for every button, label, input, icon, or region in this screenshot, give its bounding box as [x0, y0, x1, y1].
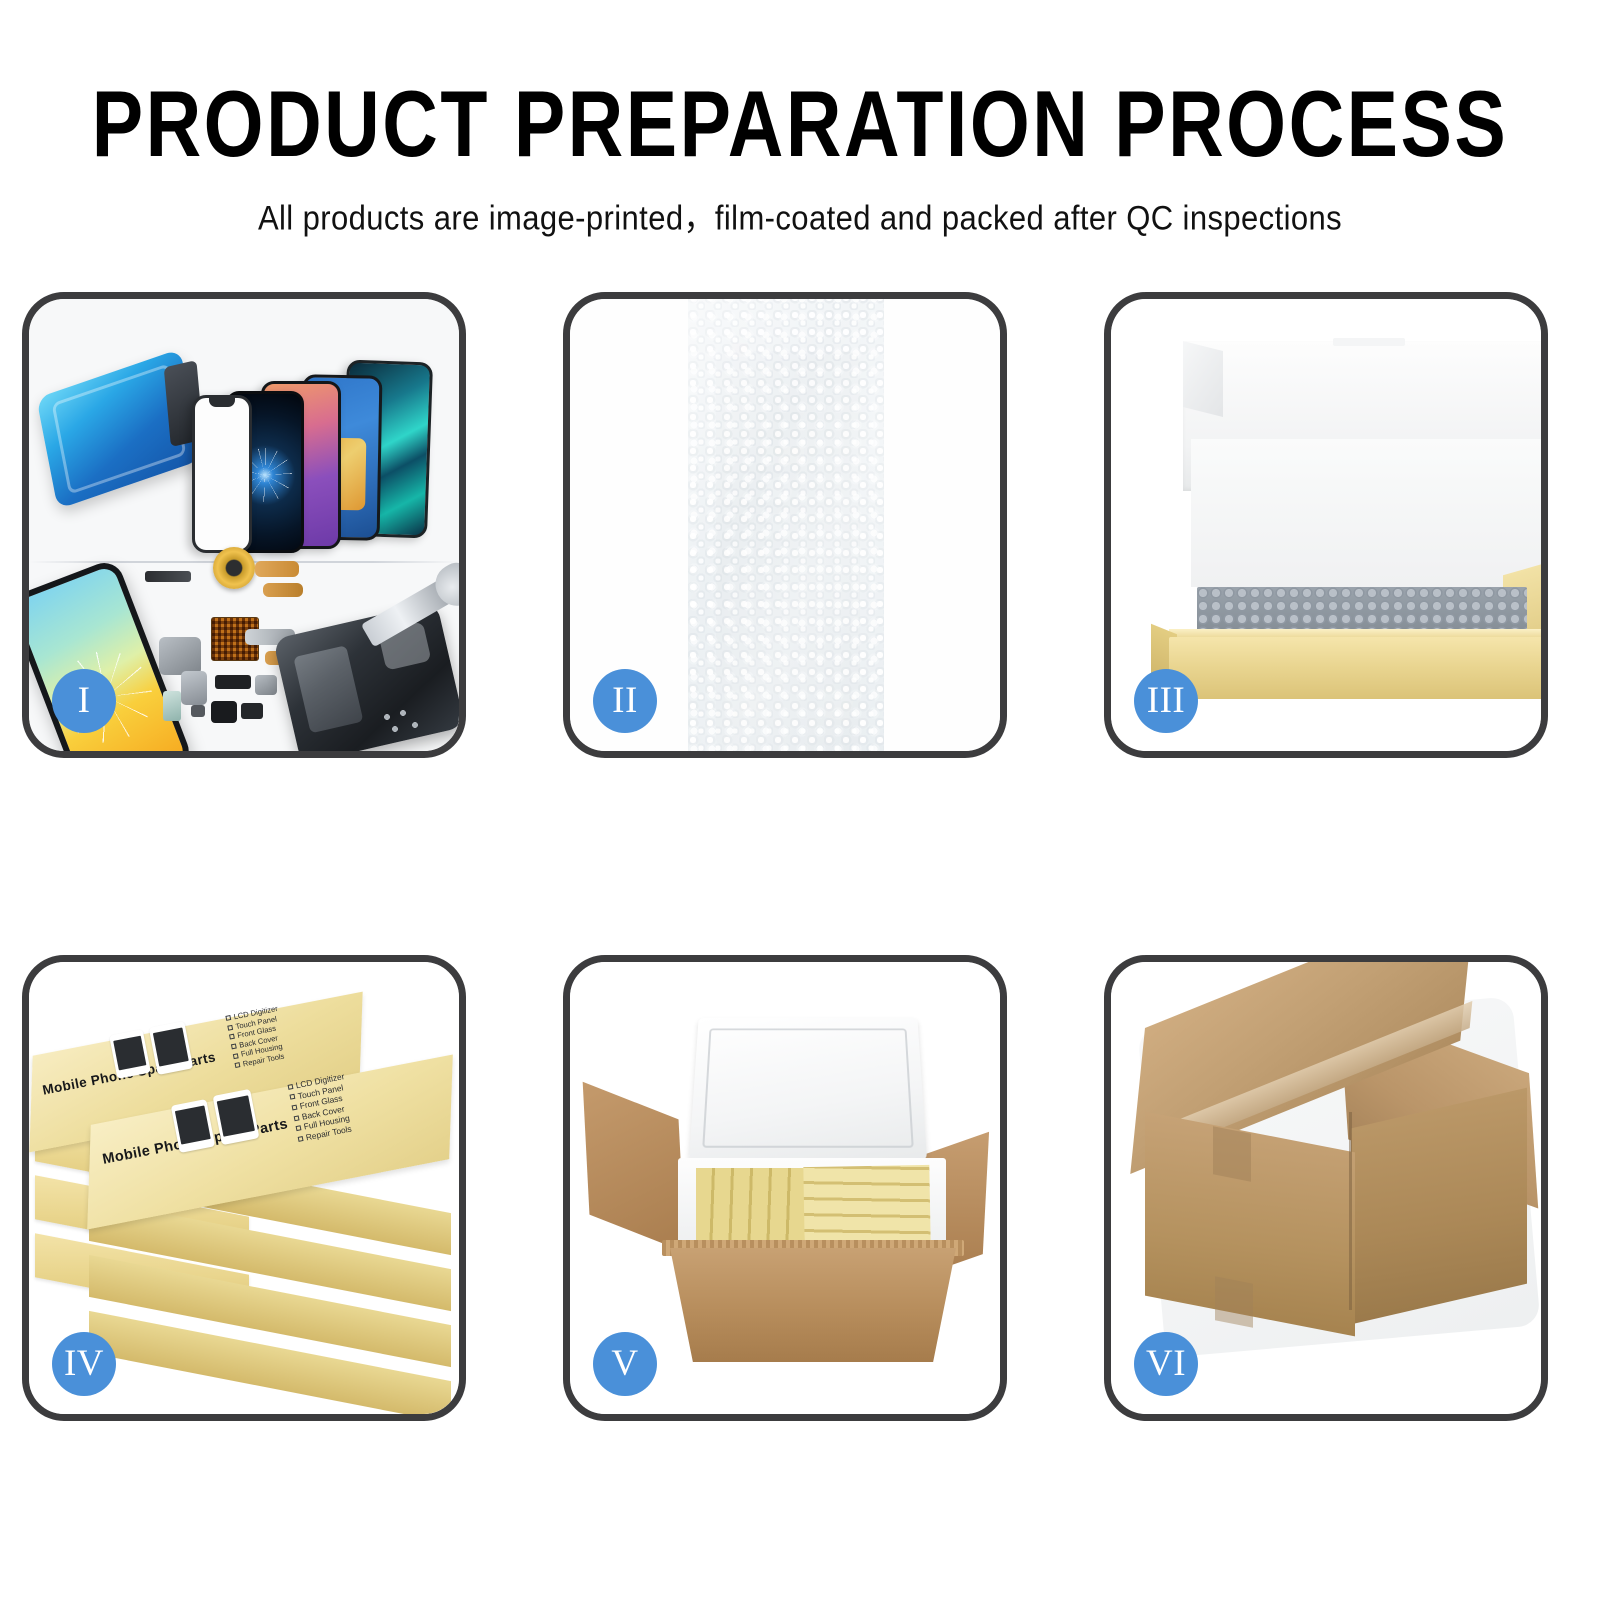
antenna-part [215, 675, 251, 689]
checkbox-icon [233, 1053, 239, 1059]
retail-box-checklist-main: LCD Digitizer Touch Panel Front Glass Ba… [287, 1071, 355, 1144]
inner-box-white-panel [1191, 439, 1541, 587]
small-component-part [191, 705, 205, 717]
earpiece-speaker-part [145, 571, 191, 582]
step-badge-3: III [1134, 669, 1198, 733]
step-badge-5: V [593, 1332, 657, 1396]
retail-boxes-inside-right [803, 1165, 930, 1245]
retail-box-checklist-upper: LCD Digitizer Touch Panel Front Glass Ba… [225, 1004, 288, 1071]
sim-tray-part [163, 691, 181, 721]
wireless-charging-coil-part [213, 547, 255, 589]
checkbox-icon [231, 1044, 237, 1050]
page-title: PRODUCT PREPARATION PROCESS [0, 78, 1600, 172]
step-badge-2: II [593, 669, 657, 733]
inner-box-front-face [1169, 637, 1541, 699]
checkbox-icon [229, 1034, 235, 1040]
checkbox-icon [288, 1084, 294, 1090]
checkbox-icon [296, 1125, 302, 1131]
carton-vertical-edge [1349, 1112, 1352, 1310]
vibrator-motor-part [255, 675, 277, 695]
checkbox-icon [292, 1105, 298, 1111]
step-panel-5: V [563, 955, 1007, 1421]
checkbox-icon [290, 1094, 296, 1100]
carton-seam-upper [1213, 1126, 1251, 1181]
step-badge-6: VI [1134, 1332, 1198, 1396]
flex-cable-part-1 [255, 561, 299, 577]
flex-cable-part-2 [263, 583, 303, 597]
carton-seam-lower [1215, 1276, 1253, 1327]
step-panel-1: I [22, 292, 466, 758]
carton-front-face [670, 1248, 956, 1362]
step-panel-4: Mobile Phone Spare Parts LCD Digitizer T… [22, 955, 466, 1421]
page-subtitle: All products are image-printed，film-coat… [0, 189, 1600, 239]
step-panel-3: III [1104, 292, 1548, 758]
checkbox-icon [294, 1115, 300, 1121]
step-badge-4: IV [52, 1332, 116, 1396]
infographic-page: PRODUCT PREPARATION PROCESS All products… [0, 0, 1600, 1600]
header: PRODUCT PREPARATION PROCESS All products… [0, 0, 1600, 234]
screws-group [379, 709, 423, 735]
button-part-2 [241, 703, 263, 719]
button-part-1 [211, 701, 237, 723]
checkbox-icon [225, 1015, 231, 1021]
connector-part [181, 671, 207, 705]
sealed-carton-right-face [1351, 1088, 1527, 1325]
checkbox-icon [298, 1136, 304, 1142]
front-glass-panel [192, 395, 252, 553]
camera-module-part [159, 637, 201, 675]
checkbox-icon [235, 1062, 241, 1068]
step-panel-2: II [563, 292, 1007, 758]
foam-box-lid [689, 1018, 927, 1161]
step-badge-1: I [52, 669, 116, 733]
checkbox-icon [227, 1025, 233, 1031]
step-panel-6: VI [1104, 955, 1548, 1421]
bubble-wrap-gloss [688, 299, 884, 751]
process-steps-grid: I II [22, 292, 1578, 1421]
